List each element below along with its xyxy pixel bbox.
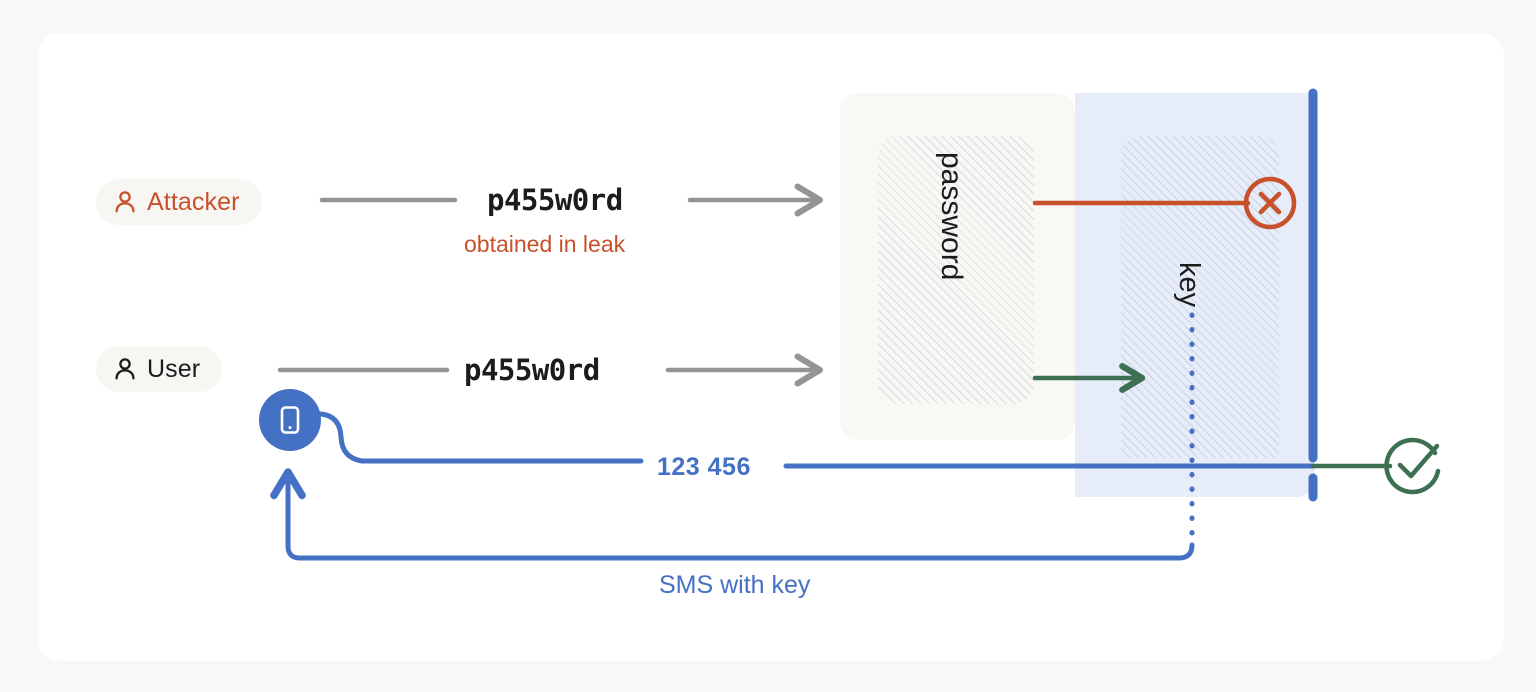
password-factor-label: password: [934, 152, 968, 280]
actor-pill-attacker[interactable]: Attacker: [96, 179, 262, 225]
actor-pill-user[interactable]: User: [96, 346, 222, 392]
user-credential-text: p455w0rd: [464, 353, 600, 387]
sms-channel-label: SMS with key: [659, 571, 810, 600]
otp-code-text: 123 456: [657, 453, 751, 482]
diagram-canvas: password key: [0, 0, 1536, 692]
mobile-phone-icon[interactable]: [259, 389, 321, 451]
actor-label-user: User: [147, 355, 200, 384]
key-factor-label: key: [1172, 262, 1205, 307]
attacker-credential-note: obtained in leak: [464, 231, 625, 258]
person-icon: [114, 190, 136, 214]
person-icon: [114, 357, 136, 381]
actor-label-attacker: Attacker: [147, 188, 240, 217]
attacker-credential-text: p455w0rd: [487, 183, 623, 217]
